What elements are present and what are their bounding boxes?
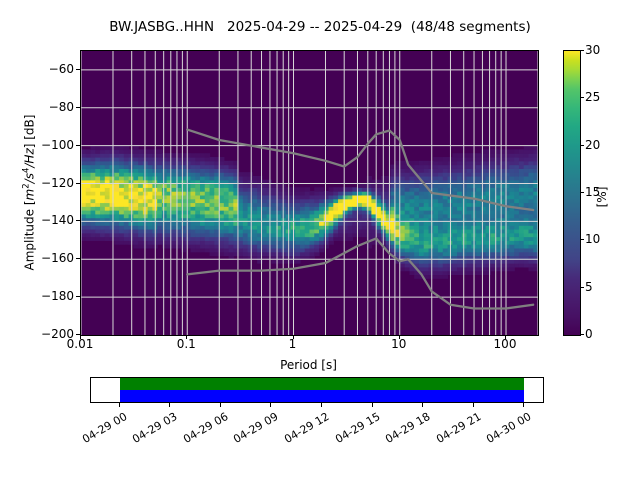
x-tick-mark	[505, 335, 506, 339]
ppsd-figure: BW.JASBG..HHN 2025-04-29 -- 2025-04-29 (…	[0, 0, 640, 480]
x-tick-label: 0.01	[50, 338, 110, 350]
colorbar-tick-mark	[580, 239, 584, 240]
timeline-tick-mark	[321, 402, 322, 407]
x-tick-label: 0.1	[156, 338, 216, 350]
colorbar-tick-mark	[580, 145, 584, 146]
timeline-tick-label: 04-29 00	[74, 410, 129, 449]
timeline-tick-label: 04-29 18	[378, 410, 433, 449]
timeline-tick-mark	[523, 402, 524, 407]
timeline-tick-mark	[422, 402, 423, 407]
y-tick-mark	[76, 258, 80, 259]
colorbar-tick-label: 30	[585, 44, 600, 56]
timeline-tick-label: 04-29 21	[428, 410, 483, 449]
y-axis-label: Amplitude [m2/s4/Hz] [dB]	[22, 68, 37, 318]
colorbar-tick-mark	[580, 50, 584, 51]
coverage-timeline[interactable]	[90, 377, 544, 403]
timeline-tick-label: 04-29 06	[175, 410, 230, 449]
colorbar-tick-mark	[580, 334, 584, 335]
y-tick-mark	[76, 220, 80, 221]
colorbar-tick-label: 20	[585, 139, 600, 151]
colorbar-tick-label: 5	[585, 281, 593, 293]
x-tick-label: 100	[475, 338, 535, 350]
figure-title: BW.JASBG..HHN 2025-04-29 -- 2025-04-29 (…	[0, 19, 640, 35]
y-tick-mark	[76, 296, 80, 297]
ppsd-plot-area[interactable]	[80, 50, 539, 336]
y-tick-mark	[76, 69, 80, 70]
colorbar-tick-mark	[580, 97, 584, 98]
x-tick-mark	[293, 335, 294, 339]
timeline-tick-mark	[169, 402, 170, 407]
y-tick-mark	[76, 145, 80, 146]
colorbar-label: [%]	[595, 167, 609, 227]
timeline-tick-label: 04-29 09	[226, 410, 281, 449]
timeline-tick-mark	[372, 402, 373, 407]
y-tick-mark	[76, 183, 80, 184]
x-tick-mark	[186, 335, 187, 339]
colorbar-tick-label: 25	[585, 91, 600, 103]
coverage-bar-blue	[120, 390, 524, 402]
timeline-tick-mark	[119, 402, 120, 407]
x-tick-label: 1	[263, 338, 323, 350]
colorbar-tick-label: 10	[585, 233, 600, 245]
x-tick-mark	[399, 335, 400, 339]
x-tick-label: 10	[369, 338, 429, 350]
colorbar	[563, 50, 581, 336]
colorbar-tick-mark	[580, 192, 584, 193]
ppsd-density-canvas	[81, 51, 538, 335]
y-tick-mark	[76, 107, 80, 108]
timeline-tick-mark	[220, 402, 221, 407]
timeline-tick-mark	[473, 402, 474, 407]
timeline-tick-label: 04-30 00	[479, 410, 534, 449]
timeline-tick-mark	[270, 402, 271, 407]
colorbar-tick-label: 0	[585, 328, 593, 340]
coverage-bar-green	[120, 378, 524, 390]
x-axis-label: Period [s]	[80, 358, 537, 372]
timeline-tick-label: 04-29 03	[125, 410, 180, 449]
colorbar-tick-mark	[580, 287, 584, 288]
timeline-tick-label: 04-29 15	[327, 410, 382, 449]
timeline-tick-label: 04-29 12	[276, 410, 331, 449]
x-tick-mark	[80, 335, 81, 339]
